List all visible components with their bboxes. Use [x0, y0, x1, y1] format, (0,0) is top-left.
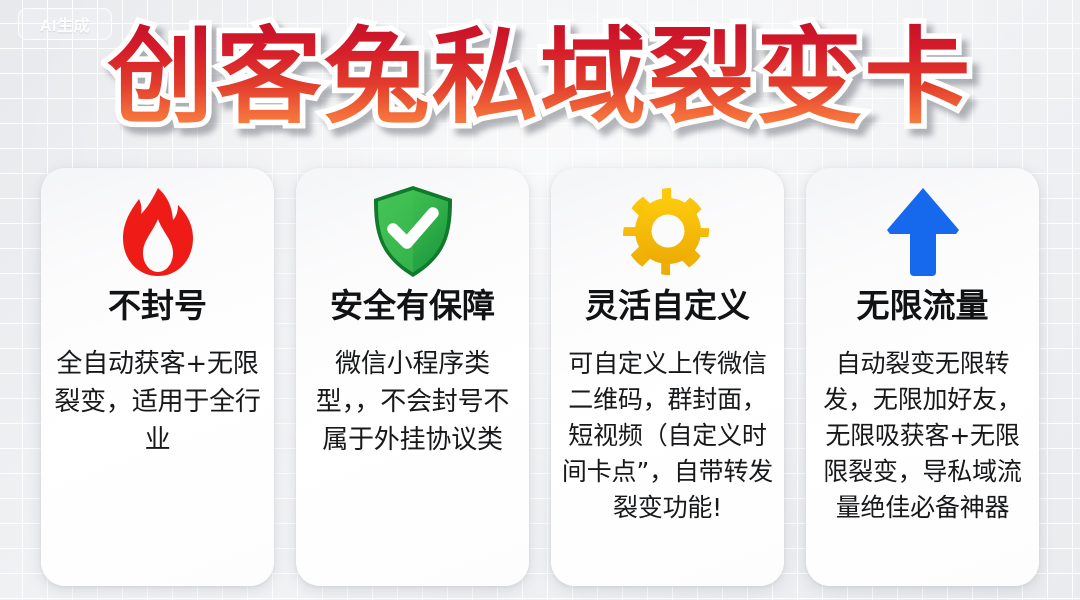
card-title: 安全有保障 [330, 288, 495, 324]
title-gradient-layer: 创客兔私域裂变卡 [108, 16, 973, 138]
shield-check-icon [304, 174, 521, 290]
feature-card-liuliang[interactable]: 无限流量 自动裂变无限转发，无限加好友，无限吸获客+无限限裂变，导私域流量绝佳必… [806, 168, 1039, 586]
poster-canvas: AI生成 创客兔私域裂变卡 创客兔私域裂变卡 不封号 全自动获客+无限裂变，适用… [0, 0, 1080, 600]
card-body-text: 微信小程序类型，，不会封号不属于外挂协议类 [304, 346, 521, 460]
arrow-up-icon [814, 174, 1031, 290]
card-title: 灵活自定义 [585, 288, 750, 324]
card-title: 不封号 [108, 288, 207, 324]
feature-card-bufenghao[interactable]: 不封号 全自动获客+无限裂变，适用于全行业 [41, 168, 274, 586]
card-title: 无限流量 [857, 288, 989, 324]
card-body-text: 可自定义上传微信二维码，群封面，短视频（自定义时间卡点”，自带转发裂变功能! [559, 346, 776, 526]
page-title: 创客兔私域裂变卡 创客兔私域裂变卡 [0, 16, 1080, 140]
feature-card-row: 不封号 全自动获客+无限裂变，适用于全行业 [0, 168, 1080, 586]
feature-card-zidingyi[interactable]: 灵活自定义 可自定义上传微信二维码，群封面，短视频（自定义时间卡点”，自带转发裂… [551, 168, 784, 586]
feature-card-anquan[interactable]: 安全有保障 微信小程序类型，，不会封号不属于外挂协议类 [296, 168, 529, 586]
flame-icon [49, 174, 266, 290]
gear-icon [559, 174, 776, 290]
title-text-group: 创客兔私域裂变卡 创客兔私域裂变卡 [108, 23, 973, 132]
card-body-text: 全自动获客+无限裂变，适用于全行业 [49, 346, 266, 460]
ai-generated-badge: AI生成 [18, 8, 112, 40]
card-body-text: 自动裂变无限转发，无限加好友，无限吸获客+无限限裂变，导私域流量绝佳必备神器 [814, 346, 1031, 526]
